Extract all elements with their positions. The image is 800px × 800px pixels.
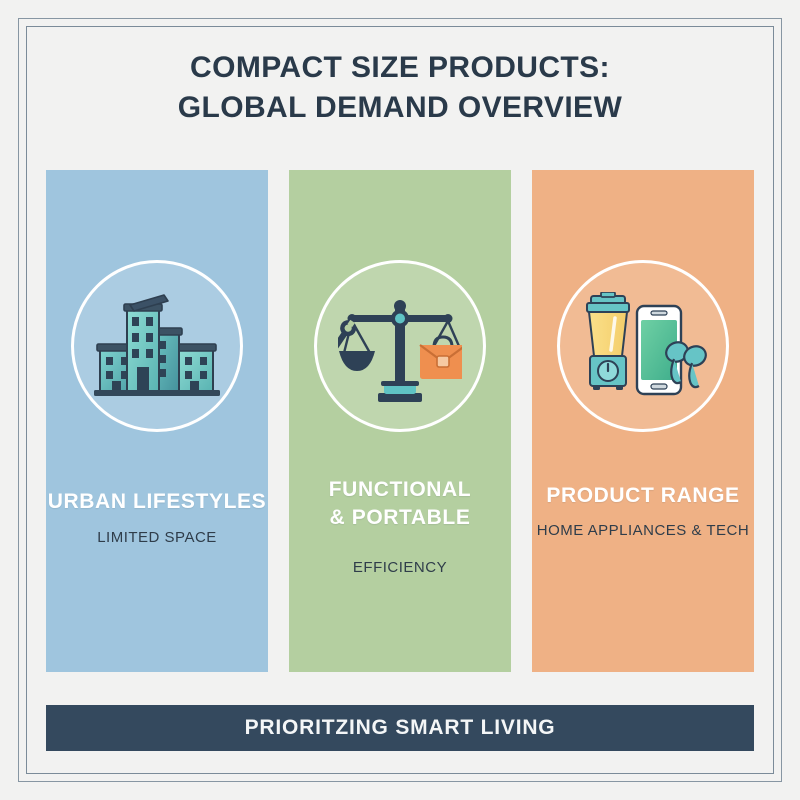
- column-label-line-2: & PORTABLE: [330, 506, 471, 529]
- column-sublabel-product-range: HOME APPLIANCES & TECH: [537, 522, 749, 539]
- infographic-poster: COMPACT SIZE PRODUCTS: GLOBAL DEMAND OVE…: [0, 0, 800, 800]
- column-label-product-range: PRODUCT RANGE: [546, 482, 739, 510]
- balance-scale-wrench-briefcase-icon: [338, 287, 462, 405]
- column-label-line-1: FUNCTIONAL: [329, 478, 471, 501]
- city-buildings-icon: [94, 293, 220, 399]
- column-sublabel-urban-lifestyles: LIMITED SPACE: [97, 529, 217, 546]
- footer-banner: PRIORITZING SMART LIVING: [46, 705, 754, 751]
- icon-circle-product-range: [557, 260, 729, 432]
- column-functional-portable[interactable]: FUNCTIONAL & PORTABLE EFFICIENCY: [289, 170, 511, 672]
- page-title-line-1: COMPACT SIZE PRODUCTS:: [0, 48, 800, 88]
- columns-container: URBAN LIFESTYLES LIMITED SPACE: [46, 170, 754, 672]
- column-label-functional-portable: FUNCTIONAL & PORTABLE: [329, 476, 471, 533]
- page-title-line-2: GLOBAL DEMAND OVERVIEW: [0, 88, 800, 128]
- column-urban-lifestyles[interactable]: URBAN LIFESTYLES LIMITED SPACE: [46, 170, 268, 672]
- column-label-urban-lifestyles: URBAN LIFESTYLES: [48, 488, 266, 516]
- footer-banner-text: PRIORITZING SMART LIVING: [245, 716, 556, 740]
- icon-circle-urban-lifestyles: [71, 260, 243, 432]
- column-product-range[interactable]: PRODUCT RANGE HOME APPLIANCES & TECH: [532, 170, 754, 672]
- blender-phone-earbuds-icon: [577, 292, 709, 400]
- column-sublabel-functional-portable: EFFICIENCY: [353, 559, 447, 576]
- page-title: COMPACT SIZE PRODUCTS: GLOBAL DEMAND OVE…: [0, 48, 800, 128]
- icon-circle-functional-portable: [314, 260, 486, 432]
